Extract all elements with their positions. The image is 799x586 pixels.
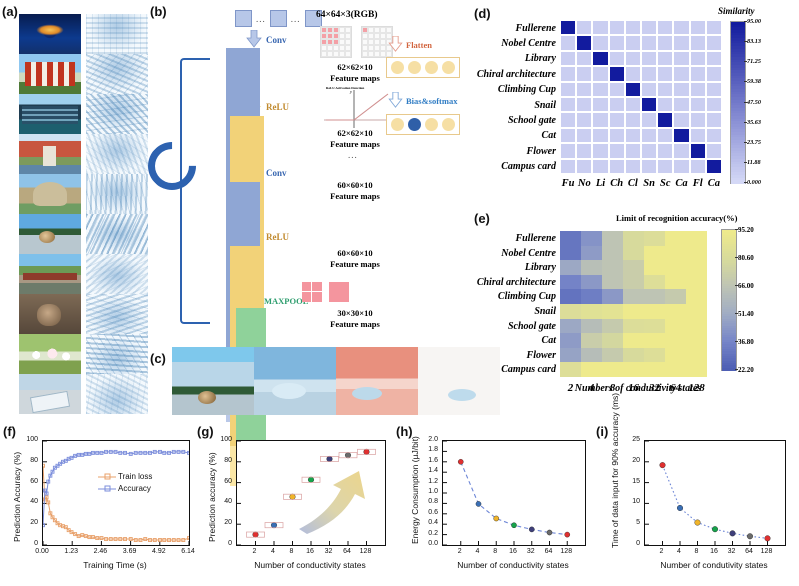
heatmap-cell	[560, 128, 576, 143]
heatmap-cell	[623, 333, 644, 348]
panel-h-plot-area	[442, 440, 586, 546]
heatmap-cell	[641, 97, 657, 112]
heatmap-cell	[690, 35, 706, 50]
data-point	[730, 531, 736, 537]
data-point	[511, 523, 516, 528]
feature-sheet	[226, 48, 260, 88]
heatmap-cell	[644, 362, 665, 377]
heatmap-cell	[609, 159, 625, 174]
y-tick-label: 20	[620, 457, 640, 464]
heatmap-cell	[623, 246, 644, 261]
x-tick-label: 128	[354, 548, 378, 555]
panel-h-ylabel: Energy Consumption (µJ/bit)	[410, 436, 420, 544]
heatmap-cell	[581, 275, 602, 290]
caption-pool-feature: Feature maps	[300, 319, 410, 330]
processed-image	[86, 334, 148, 374]
heatmap-row-label: Fullerene	[468, 23, 556, 34]
y-tick-label: 0.0	[418, 540, 438, 547]
panel-f-legend-markers	[98, 470, 118, 500]
input-square	[235, 10, 252, 27]
heatmap-cell	[560, 304, 581, 319]
relu-activation-plot: ReLU Activation Function y x	[318, 86, 396, 134]
caption-pool-dims: 30×30×10	[300, 308, 410, 319]
heatmap-cell	[576, 51, 592, 66]
heatmap-cell	[602, 289, 623, 304]
heatmap-cell	[581, 231, 602, 246]
heatmap-cell	[592, 112, 608, 127]
colorbar-tick-mark	[744, 61, 747, 62]
colorbar-tick: 95.00	[747, 18, 761, 25]
feature-sheet	[236, 308, 266, 342]
heatmap-cell	[641, 35, 657, 50]
heatmap-cell	[625, 143, 641, 158]
heatmap-row-label: Snail	[468, 100, 556, 111]
heatmap-cell	[690, 97, 706, 112]
heatmap-cell	[609, 112, 625, 127]
heatmap-cell	[657, 35, 673, 50]
heatmap-cell	[623, 319, 644, 334]
heatmap-cell	[657, 20, 673, 35]
y-tick-label: 0.8	[418, 498, 438, 505]
heatmap-cell	[690, 51, 706, 66]
heatmap-row-label: Library	[468, 53, 556, 64]
accuracy-colorbar	[721, 229, 737, 371]
heatmap-cell	[625, 51, 641, 66]
processed-image	[86, 54, 148, 94]
colorbar-tick-mark	[735, 341, 738, 342]
colorbar-tick: 36.80	[738, 338, 754, 346]
colorbar-tick-mark	[735, 229, 738, 230]
heatmap-row-label: Nobel Centre	[468, 38, 556, 49]
y-tick-label: 1.8	[418, 446, 438, 453]
heatmap-cell	[592, 66, 608, 81]
heatmap-col-label: Cl	[625, 178, 641, 189]
heatmap-cell	[673, 159, 689, 174]
heatmap-cell	[690, 66, 706, 81]
heatmap-row-label: School gate	[468, 321, 556, 332]
original-image-column	[19, 14, 81, 414]
similarity-colorbar	[730, 21, 746, 184]
heatmap-cell	[665, 246, 686, 261]
ellipsis-3: ...	[348, 150, 358, 160]
heatmap-cell	[560, 231, 581, 246]
heatmap-cell	[657, 97, 673, 112]
heatmap-cell	[560, 319, 581, 334]
heatmap-cell	[609, 35, 625, 50]
heatmap-cell	[581, 289, 602, 304]
heatmap-col-label: Li	[592, 178, 608, 189]
original-image	[19, 214, 81, 254]
processed-image	[86, 294, 148, 334]
panel-b: (b) ... ... Conv ReLU Conv ReLU MAXPOOL …	[150, 0, 480, 345]
original-image	[19, 14, 81, 54]
neuron	[442, 118, 455, 131]
recurrence-bracket	[180, 58, 210, 324]
heatmap-row-label: Chiral architecture	[468, 277, 556, 288]
heatmap-cell	[625, 97, 641, 112]
heatmap-cell	[690, 143, 706, 158]
heatmap-cell	[623, 362, 644, 377]
heatmap-row-label: Cat	[468, 335, 556, 346]
heatmap-cell	[690, 159, 706, 174]
y-tick-label: 0.4	[418, 519, 438, 526]
heatmap-cell	[625, 20, 641, 35]
heatmap-row-label: Chiral architecture	[468, 69, 556, 80]
heatmap-cell	[665, 319, 686, 334]
x-tick-label: 4.92	[147, 548, 171, 555]
input-caption: 64×64×3(RGB)	[316, 10, 378, 22]
heatmap-cell	[592, 82, 608, 97]
x-tick-label: 0.00	[30, 548, 54, 555]
panel-c-frame-2	[254, 347, 336, 415]
panel-f-legend-trainloss: Train loss	[118, 472, 152, 481]
heatmap-cell	[623, 231, 644, 246]
panel-f-xlabel: Training Time (s)	[42, 560, 188, 570]
heatmap-cell	[576, 97, 592, 112]
heatmap-col-label: Ca	[673, 178, 689, 189]
data-point	[695, 520, 701, 526]
heatmap-cell	[673, 143, 689, 158]
heatmap-row-label: Flower	[468, 146, 556, 157]
data-point	[364, 449, 370, 455]
heatmap-row-label: Cat	[468, 130, 556, 141]
neuron	[408, 61, 421, 74]
heatmap-cell	[560, 97, 576, 112]
heatmap-cell	[576, 35, 592, 50]
heatmap-cell	[602, 246, 623, 261]
original-image	[19, 374, 81, 414]
heatmap-cell	[625, 66, 641, 81]
heatmap-col-label: Sc	[657, 178, 673, 189]
heatmap-cell	[625, 112, 641, 127]
original-image	[19, 334, 81, 374]
input-image-squares: ... ...	[235, 10, 322, 27]
heatmap-cell	[609, 128, 625, 143]
y-tick-label: 10	[620, 498, 640, 505]
heatmap-cell	[665, 362, 686, 377]
heatmap-cell	[625, 82, 641, 97]
panel-i: (i) 2481632641280510152025 Number of con…	[596, 420, 799, 586]
flatten-neuron-row	[386, 57, 460, 78]
panel-d: (d) FullereneNobel CentreLibraryChiral a…	[468, 0, 799, 205]
heatmap-row-label: Climbing Cup	[468, 291, 556, 302]
heatmap-cell	[609, 66, 625, 81]
heatmap-cell	[560, 348, 581, 363]
data-point	[308, 477, 314, 483]
heatmap-cell	[625, 159, 641, 174]
heatmap-cell	[641, 143, 657, 158]
heatmap-cell	[706, 143, 722, 158]
neuron	[425, 61, 438, 74]
pool-kernel-icons	[302, 282, 349, 302]
output-neuron-row	[386, 114, 460, 135]
y-tick-label: 0.6	[418, 509, 438, 516]
heatmap-cell	[690, 82, 706, 97]
processed-image	[86, 214, 148, 254]
caption-relu1-feature: Feature maps	[300, 139, 410, 150]
heatmap-cell	[690, 128, 706, 143]
heatmap-cell	[592, 20, 608, 35]
colorbar-tick: 11.88	[747, 159, 761, 166]
heatmap-cell	[602, 231, 623, 246]
heatmap-cell	[602, 319, 623, 334]
accuracy-xlabel: Numbers of conductivity states	[564, 383, 712, 394]
feature-sheet	[230, 246, 264, 286]
heatmap-cell	[644, 275, 665, 290]
y-tick-label: 2.0	[418, 436, 438, 443]
panel-c-label: (c)	[150, 351, 166, 366]
data-point	[529, 527, 534, 532]
heatmap-cell	[706, 159, 722, 174]
similarity-colorbar-title: Similarity	[718, 6, 755, 16]
heatmap-cell	[581, 260, 602, 275]
heatmap-cell	[644, 246, 665, 261]
x-tick-label: 3.69	[118, 548, 142, 555]
heatmap-cell	[581, 304, 602, 319]
heatmap-col-label: Ch	[609, 178, 625, 189]
heatmap-cell	[673, 35, 689, 50]
heatmap-cell	[623, 275, 644, 290]
data-point	[345, 452, 351, 458]
heatmap-cell	[602, 304, 623, 319]
heatmap-cell	[706, 82, 722, 97]
colorbar-tick: 66.00	[738, 282, 754, 290]
data-point	[458, 459, 463, 464]
relu-plot-title: ReLU Activation Function	[326, 86, 364, 90]
heatmap-cell	[690, 20, 706, 35]
colorbar-tick: 80.60	[738, 254, 754, 262]
original-image	[19, 134, 81, 174]
heatmap-cell	[657, 159, 673, 174]
colorbar-tick: 95.20	[738, 226, 754, 234]
heatmap-cell	[625, 35, 641, 50]
heatmap-cell	[560, 333, 581, 348]
colorbar-tick: 59.38	[747, 78, 761, 85]
processed-image	[86, 14, 148, 54]
heatmap-cell	[644, 289, 665, 304]
colorbar-segment	[722, 368, 736, 371]
op-label-conv-1: Conv	[266, 35, 287, 46]
panel-d-label: (d)	[474, 6, 491, 21]
heatmap-cell	[581, 348, 602, 363]
panel-h-xlabel: Number of conductivity states	[442, 560, 584, 570]
processed-image	[86, 94, 148, 134]
heatmap-cell	[641, 20, 657, 35]
panel-g-plot-area	[236, 440, 386, 546]
panel-a-label: (a)	[2, 4, 18, 19]
heatmap-row-label: School gate	[468, 115, 556, 126]
y-tick-label: 5	[620, 519, 640, 526]
colorbar-tick-mark	[735, 257, 738, 258]
data-point	[476, 501, 481, 506]
heatmap-cell	[644, 304, 665, 319]
data-point	[494, 516, 499, 521]
heatmap-cell	[592, 128, 608, 143]
ellipsis-1: ...	[256, 14, 266, 24]
y-tick-label: 15	[620, 478, 640, 485]
heatmap-cell	[706, 66, 722, 81]
data-point	[677, 505, 683, 511]
heatmap-cell	[641, 66, 657, 81]
heatmap-cell	[673, 97, 689, 112]
heatmap-cell	[592, 97, 608, 112]
heatmap-row-label: Fullerene	[468, 233, 556, 244]
panel-g-xlabel: Number of conductivity states	[236, 560, 384, 570]
caption-conv2-feature: Feature maps	[300, 191, 410, 202]
heatmap-cell	[673, 51, 689, 66]
data-point	[271, 522, 277, 528]
heatmap-cell	[560, 35, 576, 50]
colorbar-tick-mark	[744, 41, 747, 42]
heatmap-cell	[609, 20, 625, 35]
data-point	[565, 532, 570, 537]
heatmap-cell	[644, 319, 665, 334]
heatmap-cell	[686, 275, 707, 290]
heatmap-cell	[665, 348, 686, 363]
panel-i-plot-area	[644, 440, 786, 546]
heatmap-cell	[690, 112, 706, 127]
caption-relu2-dims: 60×60×10	[300, 248, 410, 259]
heatmap-cell	[560, 20, 576, 35]
heatmap-cell	[641, 51, 657, 66]
neuron	[391, 118, 404, 131]
panel-c-frame-1	[172, 347, 254, 415]
heatmap-cell	[673, 128, 689, 143]
data-point	[290, 494, 296, 500]
op-label-relu-1: ReLU	[266, 102, 289, 113]
heatmap-cell	[665, 289, 686, 304]
heatmap-cell	[560, 66, 576, 81]
panel-e-label: (e)	[474, 211, 490, 226]
heatmap-cell	[623, 289, 644, 304]
heatmap-cell	[576, 112, 592, 127]
similarity-heatmap	[560, 20, 722, 174]
colorbar-segment	[731, 180, 745, 183]
heatmap-cell	[609, 97, 625, 112]
accuracy-colorbar-title: Limit of recognition accuracy(%)	[616, 213, 737, 223]
panel-b-label: (b)	[150, 4, 167, 19]
heatmap-cell	[576, 159, 592, 174]
heatmap-cell	[673, 20, 689, 35]
heatmap-cell	[657, 128, 673, 143]
heatmap-cell	[706, 97, 722, 112]
data-point	[747, 533, 753, 539]
heatmap-cell	[641, 128, 657, 143]
heatmap-cell	[665, 260, 686, 275]
heatmap-cell	[560, 362, 581, 377]
heatmap-cell	[686, 304, 707, 319]
heatmap-cell	[665, 275, 686, 290]
panel-c-image-row	[172, 347, 500, 415]
x-tick-label: 1.23	[59, 548, 83, 555]
colorbar-tick: 0.000	[747, 179, 761, 186]
y-tick-label: 1.0	[418, 488, 438, 495]
heatmap-cell	[706, 112, 722, 127]
heatmap-cell	[623, 260, 644, 275]
panel-g-ylabel: Prediction accuracy (%)	[207, 452, 217, 542]
heatmap-cell	[644, 333, 665, 348]
heatmap-cell	[560, 246, 581, 261]
heatmap-cell	[706, 128, 722, 143]
data-point	[712, 526, 718, 532]
heatmap-col-label: Fl	[690, 178, 706, 189]
x-tick-label: 128	[554, 548, 578, 555]
heatmap-cell	[686, 231, 707, 246]
y-tick-label: 25	[620, 436, 640, 443]
heatmap-cell	[686, 362, 707, 377]
neuron	[425, 118, 438, 131]
heatmap-cell	[560, 112, 576, 127]
heatmap-row-label: Flower	[468, 350, 556, 361]
panel-c-frame-3	[336, 347, 418, 415]
heatmap-cell	[657, 82, 673, 97]
heatmap-cell	[665, 333, 686, 348]
heatmap-cell	[576, 66, 592, 81]
y-tick-label: 1.2	[418, 478, 438, 485]
original-image	[19, 54, 81, 94]
heatmap-cell	[641, 112, 657, 127]
colorbar-tick-mark	[735, 313, 738, 314]
processed-image	[86, 254, 148, 294]
heatmap-cell	[623, 304, 644, 319]
colorbar-tick: 71.25	[747, 58, 761, 65]
heatmap-cell	[602, 348, 623, 363]
heatmap-row-label: Snail	[468, 306, 556, 317]
processed-image	[86, 134, 148, 174]
data-point	[547, 530, 552, 535]
colorbar-tick-mark	[744, 162, 747, 163]
processed-image	[86, 374, 148, 414]
input-square	[270, 10, 287, 27]
flatten-label: Flatten	[406, 40, 432, 51]
heatmap-cell	[641, 82, 657, 97]
heatmap-cell	[560, 82, 576, 97]
heatmap-cell	[609, 82, 625, 97]
ellipsis-2: ...	[291, 14, 301, 24]
heatmap-cell	[576, 20, 592, 35]
y-tick-label: 0	[620, 540, 640, 547]
heatmap-cell	[686, 333, 707, 348]
panel-i-xlabel: Number of condutivity states	[644, 560, 784, 570]
heatmap-cell	[576, 128, 592, 143]
panel-c: (c)	[150, 345, 485, 417]
heatmap-cell	[625, 128, 641, 143]
heatmap-col-label: Fu	[560, 178, 576, 189]
panel-f-label: (f)	[3, 424, 16, 439]
heatmap-cell	[609, 51, 625, 66]
heatmap-cell	[686, 289, 707, 304]
heatmap-cell	[673, 82, 689, 97]
original-image	[19, 294, 81, 334]
data-point	[765, 536, 771, 542]
heatmap-cell	[623, 348, 644, 363]
colorbar-tick: 47.50	[747, 99, 761, 106]
original-image	[19, 254, 81, 294]
neuron	[442, 61, 455, 74]
heatmap-cell	[657, 66, 673, 81]
heatmap-col-label: No	[576, 178, 592, 189]
panel-f-ylabel: Prediction Accuracy (%)	[12, 452, 22, 542]
heatmap-cell	[673, 112, 689, 127]
caption-conv2-dims: 60×60×10	[300, 180, 410, 191]
colorbar-tick: 83.13	[747, 38, 761, 45]
colorbar-tick-mark	[744, 122, 747, 123]
softmax-label: Bias&softmax	[406, 96, 457, 107]
panel-f: (f) 0.001.232.463.694.926.14020406080100…	[0, 420, 198, 586]
heatmap-cell	[592, 35, 608, 50]
heatmap-cell	[665, 304, 686, 319]
colorbar-tick-mark	[744, 81, 747, 82]
